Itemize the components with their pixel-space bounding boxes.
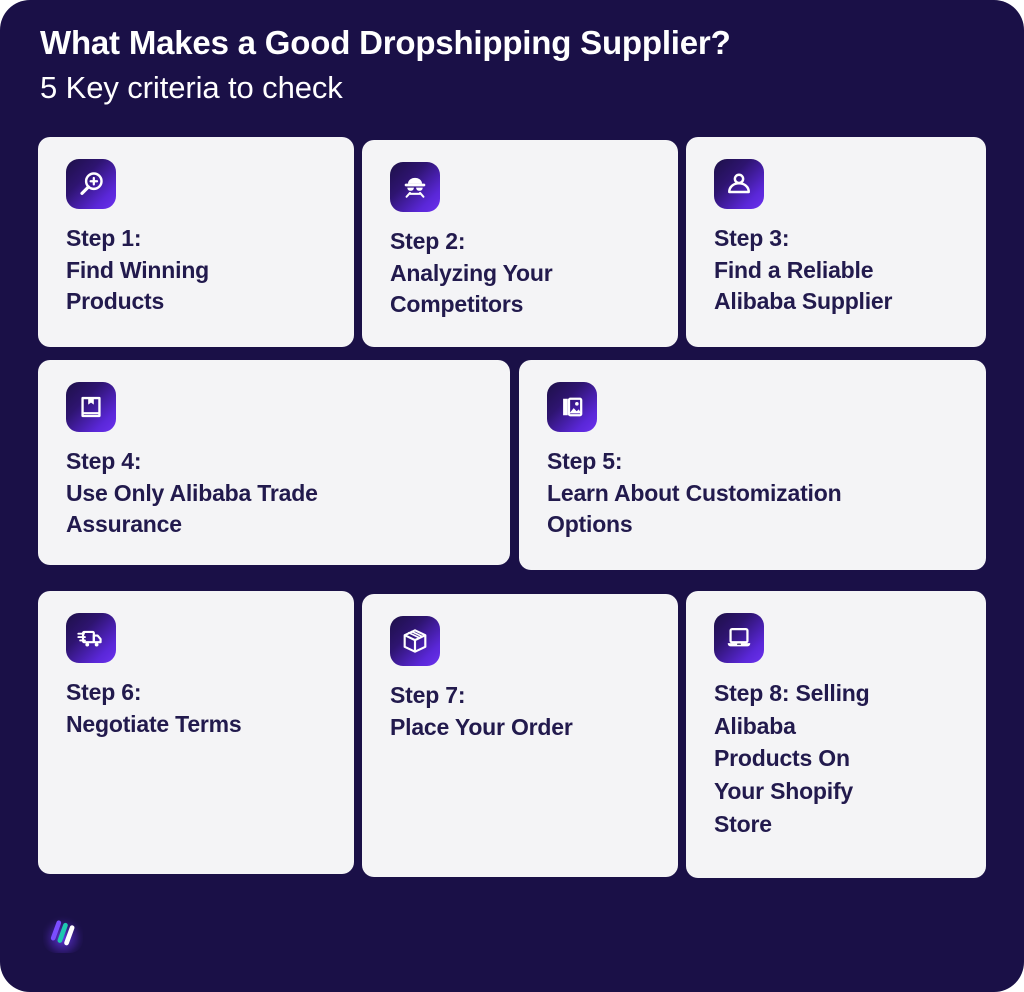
page-title: What Makes a Good Dropshipping Supplier? <box>40 22 980 64</box>
step-card-6[interactable]: Step 6: Negotiate Terms <box>38 591 354 874</box>
step-card-label: Step 1: Find Winning Products <box>66 223 209 318</box>
spy-hat-glasses-icon <box>390 162 440 212</box>
brand-logo[interactable] <box>40 910 86 956</box>
page-subtitle: 5 Key criteria to check <box>40 68 980 108</box>
book-bookmark-icon <box>66 382 116 432</box>
step-card-label: Step 6: Negotiate Terms <box>66 677 242 740</box>
step-card-label: Step 3: Find a Reliable Alibaba Supplier <box>714 223 892 318</box>
step-card-label: Step 4: Use Only Alibaba Trade Assurance <box>66 446 318 541</box>
step-card-3[interactable]: Step 3: Find a Reliable Alibaba Supplier <box>686 137 986 347</box>
step-card-5[interactable]: Step 5: Learn About Customization Option… <box>519 360 986 570</box>
laptop-icon <box>714 613 764 663</box>
step-card-label: Step 2: Analyzing Your Competitors <box>390 226 552 321</box>
card-row-3: Step 6: Negotiate Terms Step 7: Place Yo… <box>38 591 986 878</box>
step-card-label: Step 8: Selling Alibaba Products On Your… <box>714 677 869 840</box>
image-gallery-icon <box>547 382 597 432</box>
step-card-label: Step 7: Place Your Order <box>390 680 573 743</box>
infographic-canvas: What Makes a Good Dropshipping Supplier?… <box>0 0 1024 992</box>
delivery-truck-icon <box>66 613 116 663</box>
user-person-icon <box>714 159 764 209</box>
card-row-1: Step 1: Find Winning Products Step 2: An… <box>38 137 986 347</box>
header: What Makes a Good Dropshipping Supplier?… <box>40 22 980 109</box>
step-card-7[interactable]: Step 7: Place Your Order <box>362 594 678 877</box>
step-card-2[interactable]: Step 2: Analyzing Your Competitors <box>362 140 678 347</box>
package-box-icon <box>390 616 440 666</box>
step-card-1[interactable]: Step 1: Find Winning Products <box>38 137 354 347</box>
card-row-2: Step 4: Use Only Alibaba Trade Assurance… <box>38 360 986 570</box>
step-card-8[interactable]: Step 8: Selling Alibaba Products On Your… <box>686 591 986 878</box>
step-card-label: Step 5: Learn About Customization Option… <box>547 446 841 541</box>
magnifier-plus-icon <box>66 159 116 209</box>
step-card-4[interactable]: Step 4: Use Only Alibaba Trade Assurance <box>38 360 510 565</box>
